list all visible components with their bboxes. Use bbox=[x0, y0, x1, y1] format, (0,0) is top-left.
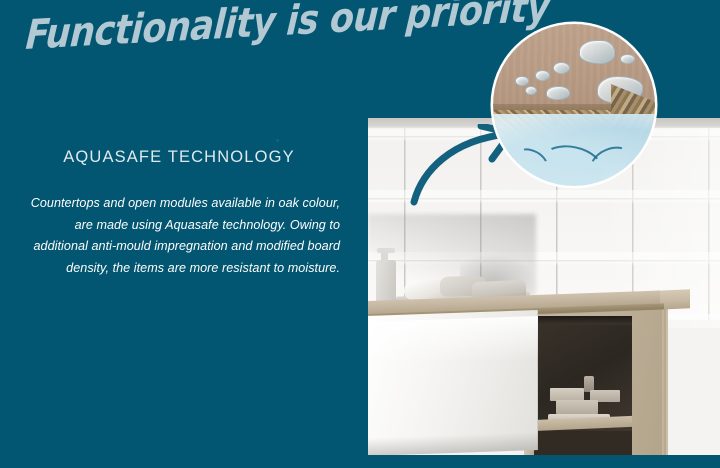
headline-text: Functionality is our priority bbox=[24, 0, 447, 64]
water-droplet bbox=[620, 54, 635, 64]
water-droplet bbox=[546, 86, 570, 100]
board-cross-section-circle bbox=[493, 24, 655, 186]
bottom-accent-strip bbox=[0, 455, 720, 468]
water-droplet bbox=[515, 76, 529, 86]
drawer-bottom-shadow bbox=[368, 432, 538, 455]
oak-module-lower-cavity bbox=[534, 431, 632, 455]
water-droplet bbox=[553, 62, 570, 74]
decorative-dot bbox=[276, 139, 279, 142]
soap-dispenser-neck bbox=[381, 252, 388, 262]
aquasafe-technology-body: Countertops and open modules available i… bbox=[28, 193, 340, 279]
soap-dispenser bbox=[376, 260, 396, 304]
soap-dispenser-pump bbox=[377, 248, 395, 253]
drawer-gloss-highlight bbox=[368, 316, 538, 366]
aquasafe-technology-heading: AQUASAFE TECHNOLOGY bbox=[28, 148, 340, 167]
aquasafe-promo-banner: Functionality is our priority AQUASAFE T… bbox=[0, 0, 720, 468]
oak-module-cavity-top-shade bbox=[534, 316, 632, 325]
feature-text-block: AQUASAFE TECHNOLOGY Countertops and open… bbox=[28, 148, 340, 279]
banner-headline: Functionality is our priority bbox=[25, 0, 447, 64]
water-droplet bbox=[535, 70, 550, 81]
white-gloss-drawer-front bbox=[368, 310, 538, 455]
water-droplet bbox=[525, 86, 537, 95]
water-droplet bbox=[579, 40, 615, 64]
storage-box bbox=[556, 400, 598, 414]
